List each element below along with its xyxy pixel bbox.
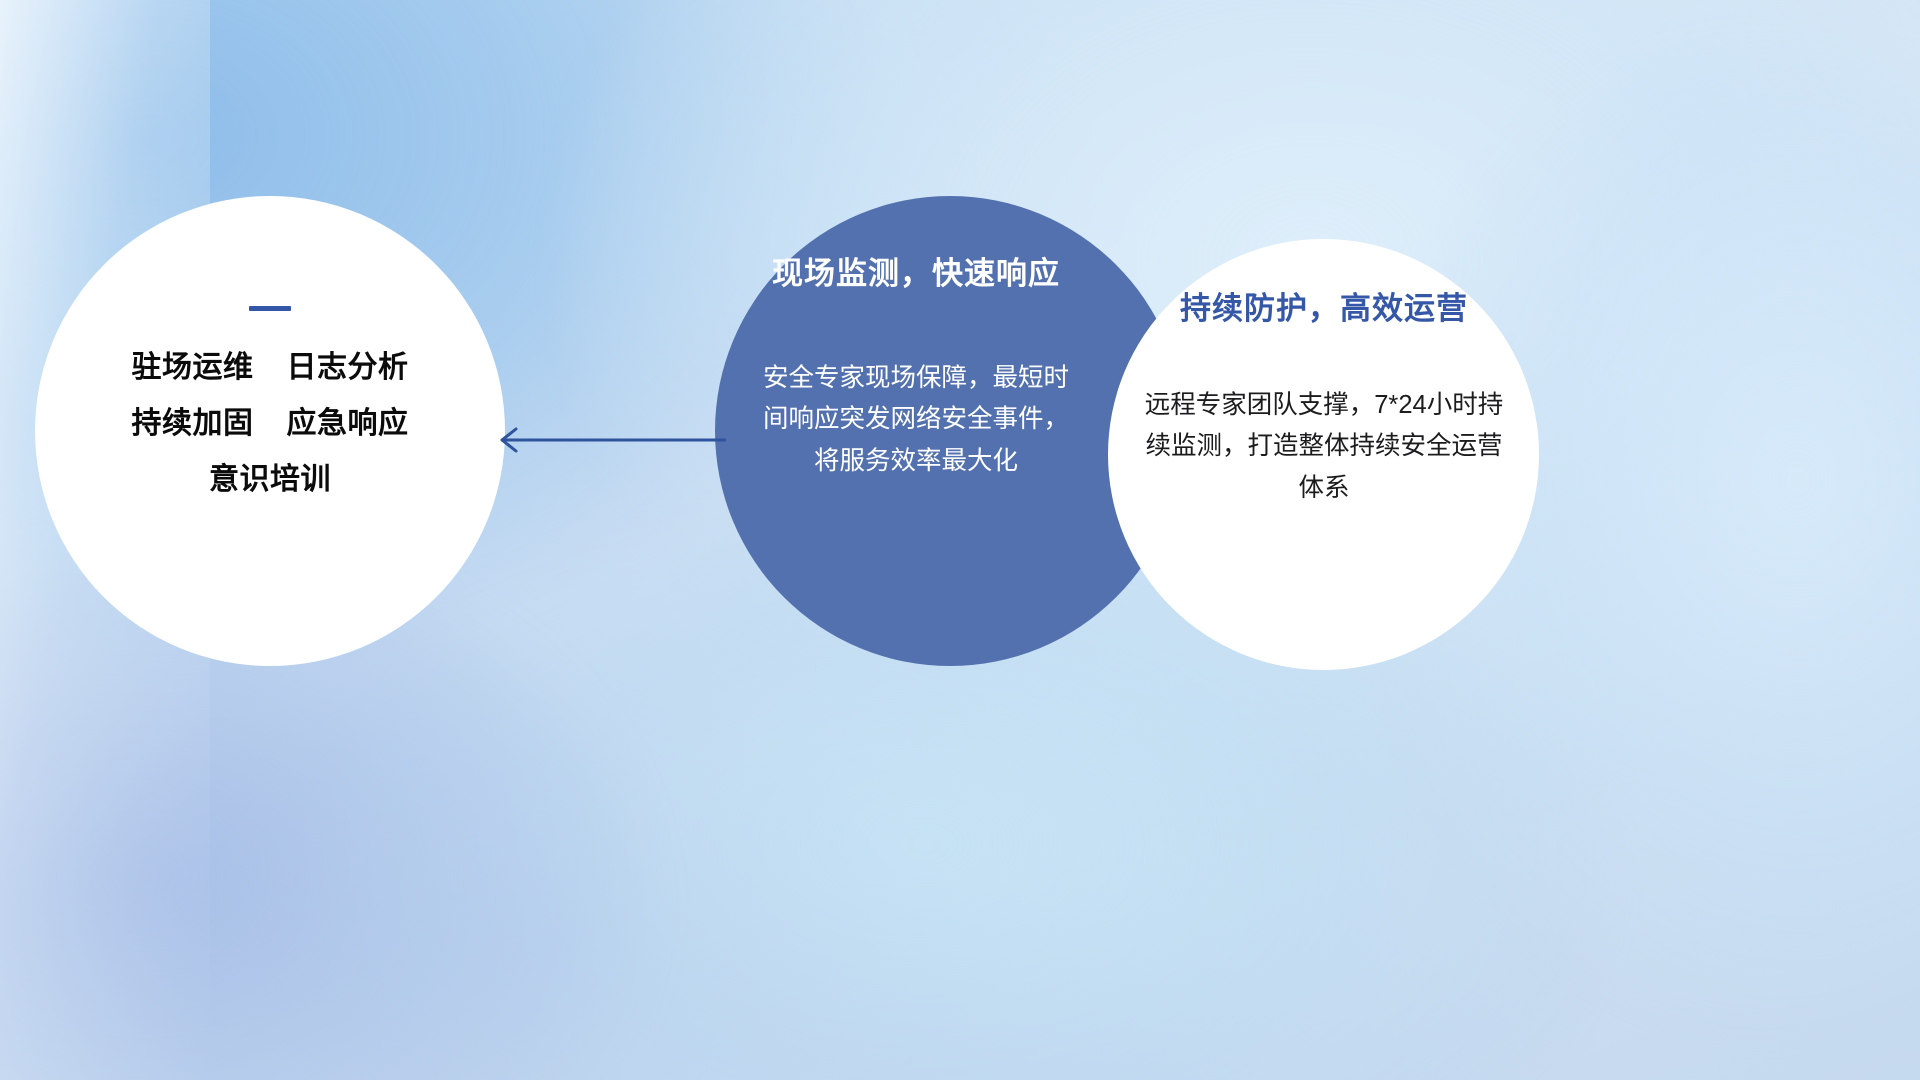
continuous-protection-body: 远程专家团队支撑，7*24小时持续监测，打造整体持续安全运营体系 [1122,385,1526,509]
continuous-protection-content: 持续防护，高效运营 远程专家团队支撑，7*24小时持续监测，打造整体持续安全运营… [1122,290,1526,509]
capability-item: 意识培训 [209,465,331,495]
left-arrow-connector [488,418,728,462]
driver-capability-content: 驻场运维 日志分析 持续加固 应急响应 意识培训 [35,196,505,666]
capability-row: 持续加固 应急响应 [132,409,409,439]
slide-canvas: 驻场运维 日志分析 持续加固 应急响应 意识培训 现场监测，快速响应 安全专家现… [0,0,1920,1080]
onsite-monitoring-content: 现场监测，快速响应 安全专家现场保障，最短时间响应突发网络安全事件，将服务效率最… [716,255,1116,482]
capability-item: 日志分析 [287,353,409,383]
arrow-icon [488,418,728,462]
capability-item: 驻场运维 [132,353,254,383]
divider-dash [249,306,291,311]
capability-item: 持续加固 [132,409,254,439]
capability-item: 应急响应 [287,409,409,439]
capability-list: 驻场运维 日志分析 持续加固 应急响应 意识培训 [132,353,409,495]
onsite-monitoring-title: 现场监测，快速响应 [716,255,1116,292]
capability-row: 驻场运维 日志分析 [132,353,409,383]
capability-row: 意识培训 [209,465,331,495]
continuous-protection-title: 持续防护，高效运营 [1122,290,1526,327]
onsite-monitoring-body: 安全专家现场保障，最短时间响应突发网络安全事件，将服务效率最大化 [716,358,1116,482]
